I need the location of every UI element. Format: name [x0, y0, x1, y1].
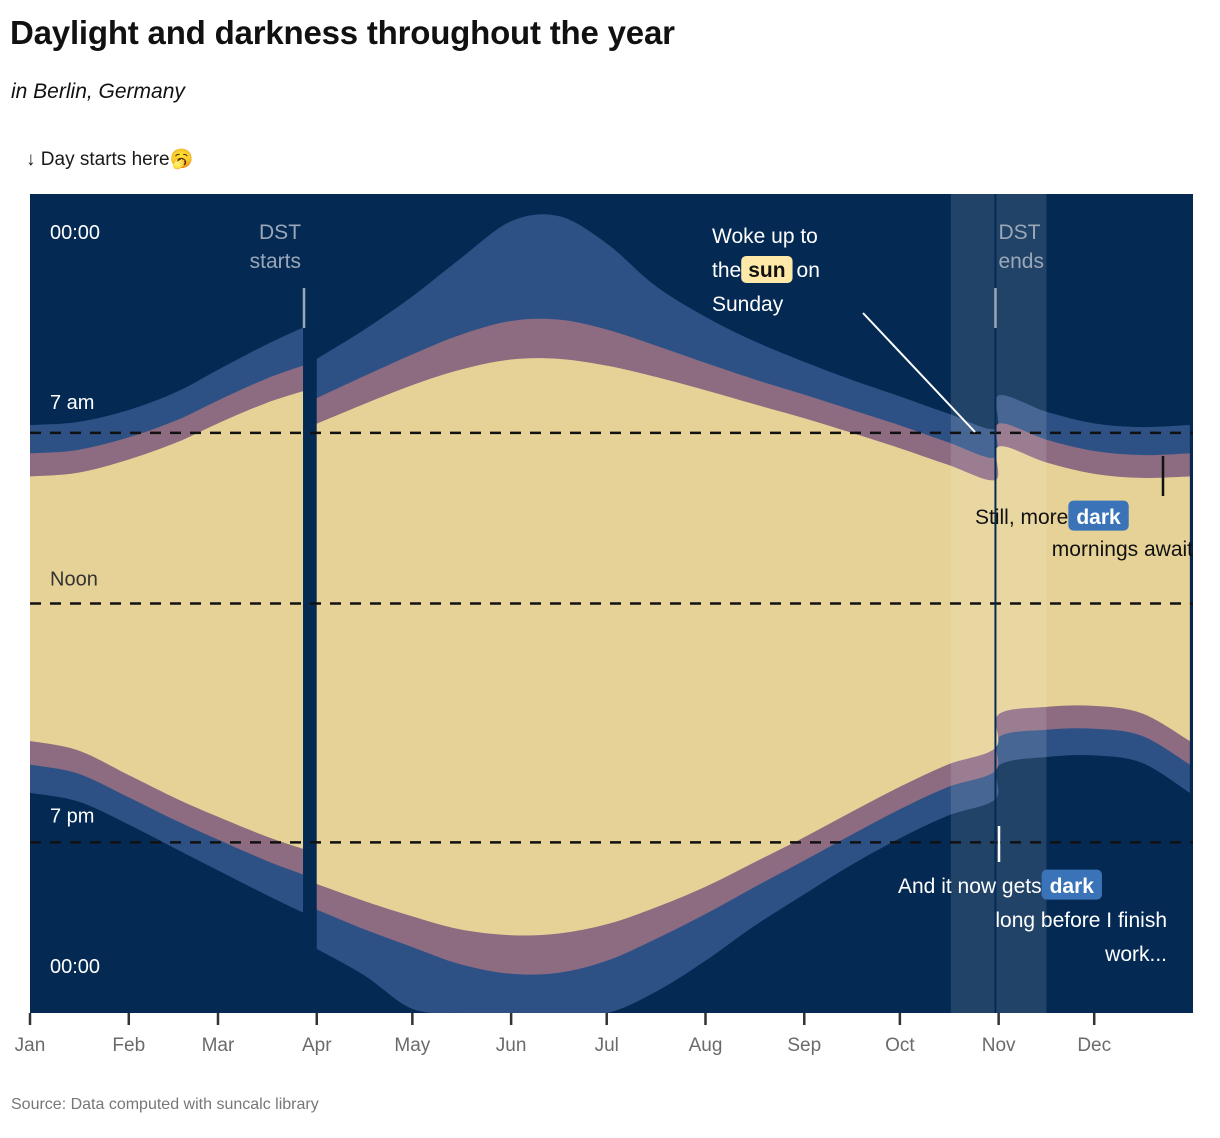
annotation-text-run: the: [712, 259, 741, 282]
x-tick-label-feb: Feb: [112, 1035, 145, 1056]
annotation-text-run: Still, more: [975, 506, 1068, 529]
x-tick-label-jan: Jan: [15, 1035, 46, 1056]
x-axis: JanFebMarAprMayJunJulAugSepOctNovDec: [15, 1013, 1111, 1056]
x-tick-label-jun: Jun: [496, 1035, 527, 1056]
y-axis-label-3: 7 pm: [50, 805, 94, 827]
y-axis-label-0: 00:00: [50, 222, 100, 244]
annotation-text-run: And it now gets: [898, 875, 1042, 898]
annotation-gets-dark-line2: long before I finish: [995, 909, 1167, 932]
x-tick-label-aug: Aug: [689, 1035, 723, 1056]
chart-page: Daylight and darkness throughout the yea…: [0, 0, 1220, 1138]
x-tick-label-nov: Nov: [982, 1035, 1016, 1056]
annotation-text-run: Sunday: [712, 293, 784, 316]
x-tick-label-jul: Jul: [595, 1035, 619, 1056]
x-tick-label-may: May: [394, 1035, 430, 1056]
annotation-text-run: on: [797, 259, 820, 282]
x-tick-label-oct: Oct: [885, 1035, 915, 1056]
pill-label-sun: sun: [748, 259, 785, 282]
x-tick-label-sep: Sep: [787, 1035, 821, 1056]
y-axis-label-1: 7 am: [50, 392, 94, 414]
x-tick-label-apr: Apr: [302, 1035, 332, 1056]
annotation-more-dark-mornings-line2: mornings await: [1052, 538, 1193, 561]
annotation-text-run: Woke up to: [712, 225, 818, 248]
x-tick-label-mar: Mar: [202, 1035, 235, 1056]
pill-label-dark: dark: [1076, 506, 1121, 529]
annotation-gets-dark-line3: work...: [1104, 943, 1167, 966]
y-axis-label-4: 00:00: [50, 956, 100, 978]
pill-label-dark: dark: [1050, 875, 1095, 898]
x-tick-label-dec: Dec: [1077, 1035, 1111, 1056]
daylight-area-chart: JanFebMarAprMayJunJulAugSepOctNovDec 00:…: [0, 0, 1220, 1138]
y-axis-label-2: Noon: [50, 569, 98, 591]
